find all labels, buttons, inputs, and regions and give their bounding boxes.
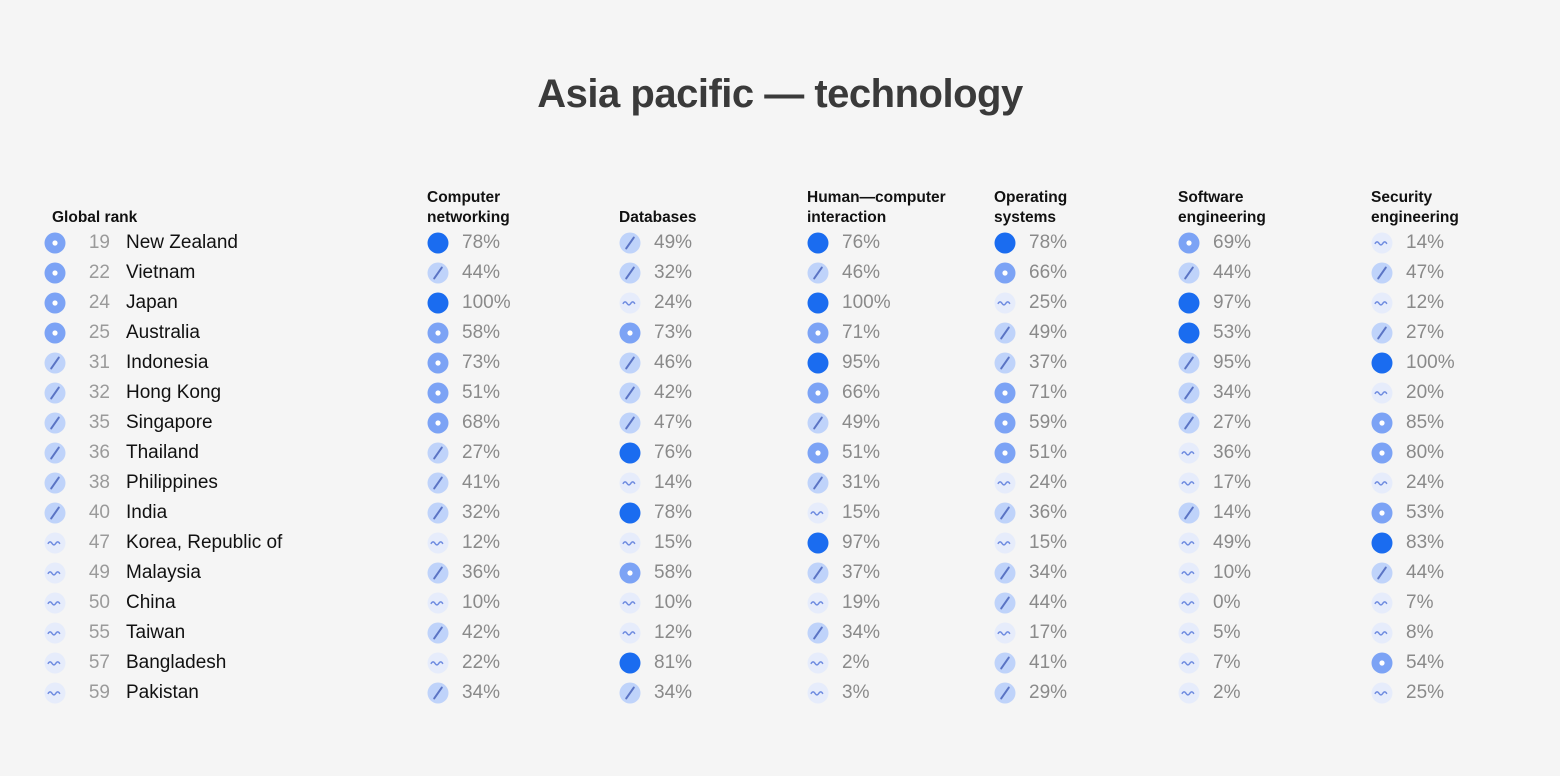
- metric-cell-netw: 36%: [427, 558, 500, 588]
- status-wave-icon: [619, 472, 641, 494]
- metric-value: 49%: [842, 412, 880, 434]
- metric-value: 44%: [462, 262, 500, 284]
- metric-cell-swe: 14%: [1178, 498, 1251, 528]
- metric-value: 2%: [1213, 682, 1240, 704]
- status-solid-icon: [619, 502, 641, 524]
- status-wave-icon: [44, 652, 66, 674]
- status-wave-icon: [619, 592, 641, 614]
- metric-value: 27%: [462, 442, 500, 464]
- rank-cell: 40India: [44, 498, 424, 528]
- country-name: China: [126, 592, 176, 614]
- status-slash-icon: [619, 262, 641, 284]
- status-slash-icon: [807, 412, 829, 434]
- metric-cell-hci: 49%: [807, 408, 880, 438]
- metric-value: 54%: [1406, 652, 1444, 674]
- metric-cell-os: 49%: [994, 318, 1067, 348]
- country-name: Philippines: [126, 472, 218, 494]
- table-row[interactable]: 35Singapore68%47%49%59%27%85%: [0, 408, 1560, 438]
- metric-cell-db: 12%: [619, 618, 692, 648]
- metric-cell-swe: 7%: [1178, 648, 1240, 678]
- metric-value: 49%: [1029, 322, 1067, 344]
- metric-cell-swe: 69%: [1178, 228, 1251, 258]
- metric-cell-netw: 34%: [427, 678, 500, 708]
- metric-cell-swe: 97%: [1178, 288, 1251, 318]
- metric-cell-sec: 47%: [1371, 258, 1444, 288]
- metric-value: 80%: [1406, 442, 1444, 464]
- metric-value: 22%: [462, 652, 500, 674]
- metric-cell-hci: 46%: [807, 258, 880, 288]
- status-wave-icon: [807, 682, 829, 704]
- status-wave-icon: [44, 622, 66, 644]
- status-wave-icon: [994, 622, 1016, 644]
- status-wave-icon: [1371, 232, 1393, 254]
- status-slash-icon: [619, 232, 641, 254]
- metric-cell-swe: 44%: [1178, 258, 1251, 288]
- metric-value: 34%: [654, 682, 692, 704]
- status-slash-icon: [1178, 412, 1200, 434]
- status-slash-icon: [994, 592, 1016, 614]
- metric-cell-swe: 17%: [1178, 468, 1251, 498]
- metric-cell-db: 24%: [619, 288, 692, 318]
- metric-cell-os: 66%: [994, 258, 1067, 288]
- metric-cell-sec: 85%: [1371, 408, 1444, 438]
- metric-value: 17%: [1213, 472, 1251, 494]
- metric-cell-sec: 24%: [1371, 468, 1444, 498]
- metric-value: 2%: [842, 652, 869, 674]
- metric-value: 59%: [1029, 412, 1067, 434]
- metric-value: 76%: [654, 442, 692, 464]
- metric-cell-hci: 76%: [807, 228, 880, 258]
- metric-value: 37%: [1029, 352, 1067, 374]
- status-slash-icon: [994, 322, 1016, 344]
- status-slash-icon: [994, 502, 1016, 524]
- status-slash-icon: [807, 622, 829, 644]
- metric-cell-os: 15%: [994, 528, 1067, 558]
- metric-value: 51%: [1029, 442, 1067, 464]
- metric-cell-os: 17%: [994, 618, 1067, 648]
- rank-cell: 38Philippines: [44, 468, 424, 498]
- metric-value: 12%: [654, 622, 692, 644]
- rank-number: 38: [76, 472, 110, 494]
- status-slash-icon: [427, 262, 449, 284]
- rank-number: 47: [76, 532, 110, 554]
- metric-value: 41%: [462, 472, 500, 494]
- status-slash-icon: [44, 382, 66, 404]
- metric-cell-swe: 53%: [1178, 318, 1251, 348]
- metric-value: 71%: [842, 322, 880, 344]
- status-dot-icon: [44, 322, 66, 344]
- metric-cell-swe: 49%: [1178, 528, 1251, 558]
- metric-value: 73%: [654, 322, 692, 344]
- table-row[interactable]: 38Philippines41%14%31%24%17%24%: [0, 468, 1560, 498]
- country-name: Thailand: [126, 442, 199, 464]
- metric-cell-sec: 54%: [1371, 648, 1444, 678]
- metric-cell-db: 78%: [619, 498, 692, 528]
- country-name: Singapore: [126, 412, 213, 434]
- metric-cell-hci: 31%: [807, 468, 880, 498]
- metric-value: 97%: [1213, 292, 1251, 314]
- status-slash-icon: [1371, 322, 1393, 344]
- status-solid-icon: [619, 652, 641, 674]
- status-dot-icon: [807, 322, 829, 344]
- rank-cell: 32Hong Kong: [44, 378, 424, 408]
- metric-cell-os: 34%: [994, 558, 1067, 588]
- column-header-netw: Computer networking: [427, 188, 510, 228]
- metric-cell-netw: 78%: [427, 228, 500, 258]
- status-wave-icon: [994, 292, 1016, 314]
- metric-value: 32%: [654, 262, 692, 284]
- status-wave-icon: [807, 592, 829, 614]
- metric-value: 31%: [842, 472, 880, 494]
- status-wave-icon: [44, 532, 66, 554]
- metric-cell-db: 81%: [619, 648, 692, 678]
- status-wave-icon: [619, 532, 641, 554]
- table-row[interactable]: 59Pakistan34%34%3%29%2%25%: [0, 678, 1560, 708]
- metric-value: 51%: [842, 442, 880, 464]
- metric-value: 66%: [1029, 262, 1067, 284]
- rank-number: 22: [76, 262, 110, 284]
- rank-cell: 19New Zealand: [44, 228, 424, 258]
- status-slash-icon: [427, 562, 449, 584]
- metric-cell-hci: 15%: [807, 498, 880, 528]
- status-solid-icon: [994, 232, 1016, 254]
- metric-value: 71%: [1029, 382, 1067, 404]
- table-row[interactable]: 24Japan100%24%100%25%97%12%: [0, 288, 1560, 318]
- metric-value: 47%: [1406, 262, 1444, 284]
- metric-value: 15%: [654, 532, 692, 554]
- status-dot-icon: [994, 442, 1016, 464]
- metric-cell-db: 49%: [619, 228, 692, 258]
- table-row[interactable]: 57Bangladesh22%81%2%41%7%54%: [0, 648, 1560, 678]
- status-wave-icon: [619, 622, 641, 644]
- metric-cell-db: 47%: [619, 408, 692, 438]
- status-slash-icon: [994, 562, 1016, 584]
- status-slash-icon: [619, 382, 641, 404]
- table-row[interactable]: 32Hong Kong51%42%66%71%34%20%: [0, 378, 1560, 408]
- metric-cell-netw: 100%: [427, 288, 511, 318]
- table-row[interactable]: 40India32%78%15%36%14%53%: [0, 498, 1560, 528]
- status-dot-icon: [994, 382, 1016, 404]
- metric-cell-os: 41%: [994, 648, 1067, 678]
- status-wave-icon: [44, 592, 66, 614]
- status-dot-icon: [1371, 442, 1393, 464]
- metric-value: 10%: [654, 592, 692, 614]
- metric-value: 53%: [1213, 322, 1251, 344]
- country-name: Vietnam: [126, 262, 195, 284]
- metric-value: 53%: [1406, 502, 1444, 524]
- table-row[interactable]: 22Vietnam44%32%46%66%44%47%: [0, 258, 1560, 288]
- status-wave-icon: [1371, 472, 1393, 494]
- metric-cell-hci: 66%: [807, 378, 880, 408]
- metric-cell-os: 37%: [994, 348, 1067, 378]
- country-name: Korea, Republic of: [126, 532, 282, 554]
- status-slash-icon: [44, 352, 66, 374]
- metric-value: 66%: [842, 382, 880, 404]
- metric-cell-os: 51%: [994, 438, 1067, 468]
- status-wave-icon: [1178, 652, 1200, 674]
- metric-cell-hci: 3%: [807, 678, 869, 708]
- metric-cell-db: 58%: [619, 558, 692, 588]
- metric-value: 34%: [842, 622, 880, 644]
- table-row[interactable]: 55Taiwan42%12%34%17%5%8%: [0, 618, 1560, 648]
- column-header-rank: Global rank: [52, 208, 137, 228]
- rank-number: 50: [76, 592, 110, 614]
- column-header-swe: Software engineering: [1178, 188, 1266, 228]
- metric-cell-sec: 14%: [1371, 228, 1444, 258]
- status-solid-icon: [807, 292, 829, 314]
- status-dot-icon: [44, 262, 66, 284]
- metric-value: 41%: [1029, 652, 1067, 674]
- metric-cell-netw: 41%: [427, 468, 500, 498]
- column-header-hci: Human—computer interaction: [807, 188, 946, 228]
- rank-cell: 24Japan: [44, 288, 424, 318]
- status-slash-icon: [427, 502, 449, 524]
- status-dot-icon: [619, 562, 641, 584]
- status-wave-icon: [1371, 682, 1393, 704]
- metric-value: 68%: [462, 412, 500, 434]
- metric-cell-sec: 53%: [1371, 498, 1444, 528]
- status-slash-icon: [807, 562, 829, 584]
- metric-cell-os: 29%: [994, 678, 1067, 708]
- metric-value: 3%: [842, 682, 869, 704]
- status-wave-icon: [44, 562, 66, 584]
- status-dot-icon: [1371, 502, 1393, 524]
- metric-cell-db: 34%: [619, 678, 692, 708]
- metric-cell-os: 78%: [994, 228, 1067, 258]
- status-slash-icon: [1371, 562, 1393, 584]
- status-slash-icon: [619, 682, 641, 704]
- status-wave-icon: [1178, 592, 1200, 614]
- status-wave-icon: [1178, 472, 1200, 494]
- metric-value: 15%: [842, 502, 880, 524]
- status-solid-icon: [1178, 292, 1200, 314]
- status-dot-icon: [994, 412, 1016, 434]
- metric-value: 58%: [654, 562, 692, 584]
- status-dot-icon: [994, 262, 1016, 284]
- metric-cell-sec: 25%: [1371, 678, 1444, 708]
- metric-value: 14%: [1406, 232, 1444, 254]
- metric-value: 78%: [654, 502, 692, 524]
- status-dot-icon: [1371, 412, 1393, 434]
- status-slash-icon: [994, 352, 1016, 374]
- page-title: Asia pacific — technology: [0, 72, 1560, 117]
- metric-value: 78%: [1029, 232, 1067, 254]
- metric-value: 10%: [1213, 562, 1251, 584]
- metric-value: 14%: [1213, 502, 1251, 524]
- metric-cell-hci: 34%: [807, 618, 880, 648]
- metric-value: 24%: [654, 292, 692, 314]
- metric-value: 34%: [462, 682, 500, 704]
- metric-value: 19%: [842, 592, 880, 614]
- metric-value: 100%: [842, 292, 891, 314]
- metric-value: 81%: [654, 652, 692, 674]
- status-solid-icon: [619, 442, 641, 464]
- metric-cell-sec: 100%: [1371, 348, 1455, 378]
- metric-cell-db: 10%: [619, 588, 692, 618]
- metric-cell-swe: 5%: [1178, 618, 1240, 648]
- metric-value: 24%: [1029, 472, 1067, 494]
- rank-cell: 55Taiwan: [44, 618, 424, 648]
- metric-cell-hci: 71%: [807, 318, 880, 348]
- metric-value: 46%: [654, 352, 692, 374]
- rank-number: 32: [76, 382, 110, 404]
- metric-cell-hci: 51%: [807, 438, 880, 468]
- metric-value: 44%: [1213, 262, 1251, 284]
- rank-cell: 47Korea, Republic of: [44, 528, 424, 558]
- country-name: Bangladesh: [126, 652, 226, 674]
- table-row[interactable]: 47Korea, Republic of12%15%97%15%49%83%: [0, 528, 1560, 558]
- status-dot-icon: [807, 382, 829, 404]
- metric-value: 44%: [1029, 592, 1067, 614]
- metric-cell-swe: 27%: [1178, 408, 1251, 438]
- status-wave-icon: [427, 652, 449, 674]
- metric-value: 46%: [842, 262, 880, 284]
- status-solid-icon: [807, 232, 829, 254]
- table-row[interactable]: 50China10%10%19%44%0%7%: [0, 588, 1560, 618]
- metric-cell-netw: 10%: [427, 588, 500, 618]
- metric-cell-os: 59%: [994, 408, 1067, 438]
- rank-cell: 22Vietnam: [44, 258, 424, 288]
- metric-cell-netw: 51%: [427, 378, 500, 408]
- status-slash-icon: [44, 412, 66, 434]
- metric-value: 20%: [1406, 382, 1444, 404]
- metric-cell-os: 36%: [994, 498, 1067, 528]
- metric-value: 17%: [1029, 622, 1067, 644]
- country-name: Taiwan: [126, 622, 185, 644]
- metric-cell-netw: 27%: [427, 438, 500, 468]
- column-header-os: Operating systems: [994, 188, 1067, 228]
- rank-number: 40: [76, 502, 110, 524]
- metric-cell-os: 44%: [994, 588, 1067, 618]
- status-slash-icon: [619, 352, 641, 374]
- status-solid-icon: [807, 352, 829, 374]
- metric-value: 97%: [842, 532, 880, 554]
- country-name: India: [126, 502, 167, 524]
- rank-cell: 49Malaysia: [44, 558, 424, 588]
- status-solid-icon: [807, 532, 829, 554]
- metric-cell-os: 24%: [994, 468, 1067, 498]
- metric-cell-sec: 8%: [1371, 618, 1433, 648]
- rank-cell: 35Singapore: [44, 408, 424, 438]
- status-wave-icon: [1178, 622, 1200, 644]
- metric-cell-db: 73%: [619, 318, 692, 348]
- metric-value: 85%: [1406, 412, 1444, 434]
- metric-value: 95%: [842, 352, 880, 374]
- metric-cell-db: 76%: [619, 438, 692, 468]
- status-slash-icon: [994, 652, 1016, 674]
- metric-value: 78%: [462, 232, 500, 254]
- rank-number: 36: [76, 442, 110, 464]
- column-header-sec: Security engineering: [1371, 188, 1459, 228]
- metric-cell-swe: 34%: [1178, 378, 1251, 408]
- metric-value: 73%: [462, 352, 500, 374]
- metric-value: 37%: [842, 562, 880, 584]
- rank-cell: 59Pakistan: [44, 678, 424, 708]
- metric-value: 34%: [1029, 562, 1067, 584]
- status-solid-icon: [1178, 322, 1200, 344]
- table-row[interactable]: 36Thailand27%76%51%51%36%80%: [0, 438, 1560, 468]
- metric-value: 25%: [1029, 292, 1067, 314]
- table-row[interactable]: 25Australia58%73%71%49%53%27%: [0, 318, 1560, 348]
- rank-cell: 25Australia: [44, 318, 424, 348]
- country-name: Japan: [126, 292, 178, 314]
- metric-value: 47%: [654, 412, 692, 434]
- rank-cell: 31Indonesia: [44, 348, 424, 378]
- status-wave-icon: [1371, 592, 1393, 614]
- metric-cell-netw: 44%: [427, 258, 500, 288]
- status-slash-icon: [44, 502, 66, 524]
- metric-value: 100%: [1406, 352, 1455, 374]
- metric-value: 8%: [1406, 622, 1433, 644]
- metric-value: 42%: [654, 382, 692, 404]
- metric-cell-swe: 36%: [1178, 438, 1251, 468]
- metric-value: 49%: [654, 232, 692, 254]
- metric-value: 29%: [1029, 682, 1067, 704]
- metric-value: 27%: [1213, 412, 1251, 434]
- status-slash-icon: [1178, 352, 1200, 374]
- metric-value: 7%: [1406, 592, 1433, 614]
- metric-cell-netw: 58%: [427, 318, 500, 348]
- status-wave-icon: [1178, 562, 1200, 584]
- status-wave-icon: [619, 292, 641, 314]
- table-row[interactable]: 49Malaysia36%58%37%34%10%44%: [0, 558, 1560, 588]
- table-row[interactable]: 31Indonesia73%46%95%37%95%100%: [0, 348, 1560, 378]
- status-wave-icon: [1371, 292, 1393, 314]
- metric-cell-hci: 97%: [807, 528, 880, 558]
- metric-cell-db: 46%: [619, 348, 692, 378]
- metric-cell-sec: 80%: [1371, 438, 1444, 468]
- metric-value: 25%: [1406, 682, 1444, 704]
- metric-cell-sec: 44%: [1371, 558, 1444, 588]
- metric-value: 7%: [1213, 652, 1240, 674]
- metric-cell-hci: 2%: [807, 648, 869, 678]
- metric-value: 36%: [462, 562, 500, 584]
- metric-cell-hci: 37%: [807, 558, 880, 588]
- status-wave-icon: [1178, 532, 1200, 554]
- rank-number: 49: [76, 562, 110, 584]
- status-slash-icon: [427, 442, 449, 464]
- status-dot-icon: [1178, 232, 1200, 254]
- status-slash-icon: [994, 682, 1016, 704]
- metric-cell-db: 32%: [619, 258, 692, 288]
- metric-value: 14%: [654, 472, 692, 494]
- status-wave-icon: [427, 532, 449, 554]
- metric-cell-sec: 83%: [1371, 528, 1444, 558]
- metric-cell-os: 71%: [994, 378, 1067, 408]
- metric-value: 15%: [1029, 532, 1067, 554]
- metric-value: 36%: [1213, 442, 1251, 464]
- status-solid-icon: [427, 292, 449, 314]
- metric-value: 69%: [1213, 232, 1251, 254]
- rank-cell: 36Thailand: [44, 438, 424, 468]
- status-slash-icon: [1178, 502, 1200, 524]
- status-solid-icon: [1371, 352, 1393, 374]
- metric-value: 34%: [1213, 382, 1251, 404]
- metric-cell-hci: 19%: [807, 588, 880, 618]
- metric-value: 12%: [462, 532, 500, 554]
- status-dot-icon: [427, 352, 449, 374]
- metric-value: 51%: [462, 382, 500, 404]
- status-dot-icon: [44, 292, 66, 314]
- rank-number: 24: [76, 292, 110, 314]
- metric-value: 36%: [1029, 502, 1067, 524]
- metric-cell-swe: 95%: [1178, 348, 1251, 378]
- metric-cell-netw: 68%: [427, 408, 500, 438]
- table-row[interactable]: 19New Zealand78%49%76%78%69%14%: [0, 228, 1560, 258]
- metric-cell-swe: 10%: [1178, 558, 1251, 588]
- country-name: Pakistan: [126, 682, 199, 704]
- metric-cell-db: 15%: [619, 528, 692, 558]
